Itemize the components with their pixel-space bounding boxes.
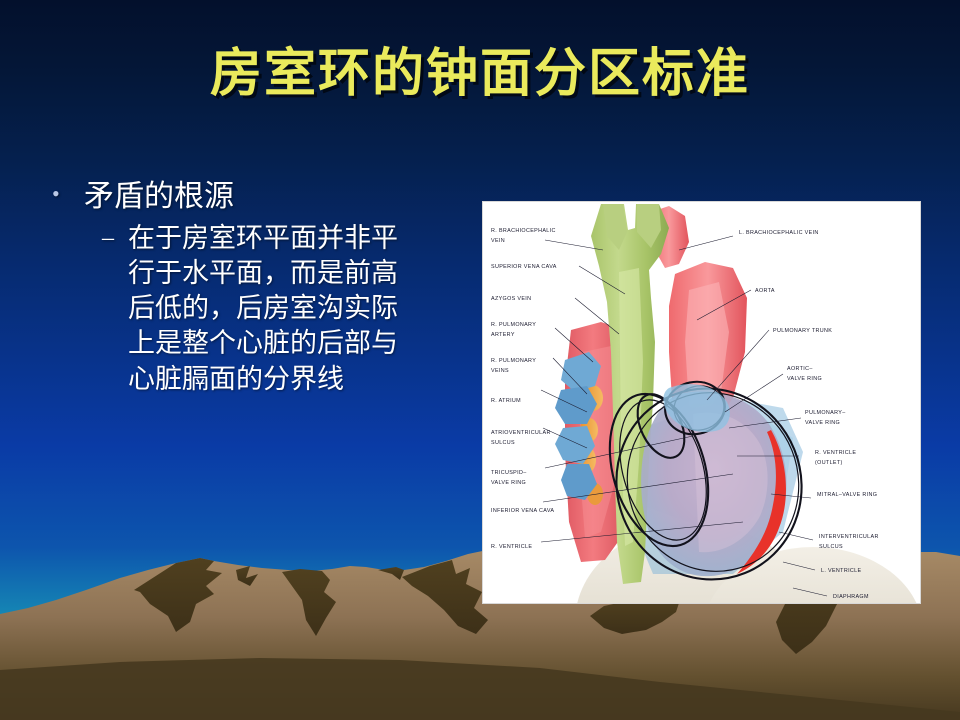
bullet-marker-level2: –: [102, 221, 128, 255]
label-r-pulmonary-veins-line2: VEINS: [491, 368, 509, 374]
label-pulmonary-valve-ring: PULMONARY–: [805, 410, 846, 416]
bullet-level1-matou-genyuan: • 矛盾的根源: [44, 178, 464, 215]
bullet-level2-line-4: 上是整个心脏的后部与: [128, 328, 398, 358]
label-r-ventricle-outlet: R. VENTRICLE: [815, 450, 856, 456]
label-superior-vena-cava: SUPERIOR VENA CAVA: [491, 264, 557, 270]
label-pulmonary-valve-ring-line2: VALVE RING: [805, 420, 840, 426]
label-r-brachiocephalic-vein: R. BRACHIOCEPHALIC: [491, 228, 556, 234]
bullet-level2-line-1: 在于房室环平面并非平: [128, 223, 398, 253]
label-inferior-vena-cava: INFERIOR VENA CAVA: [491, 508, 554, 514]
bullet-level2-text: 在于房室环平面并非平 行于水平面，而是前高 后低的，后房室沟实际 上是整个心脏的…: [128, 221, 464, 396]
bullet-level2-line-3: 后低的，后房室沟实际: [128, 293, 398, 323]
label-r-ventricle: R. VENTRICLE: [491, 544, 532, 550]
label-diaphragm: DIAPHRAGM: [833, 594, 869, 600]
label-r-pulmonary-artery: R. PULMONARY: [491, 322, 536, 328]
label-mitral-valve-ring: MITRAL–VALVE RING: [817, 492, 877, 498]
label-aortic-valve-ring: AORTIC–: [787, 366, 813, 372]
label-l-brachiocephalic-vein: L. BRACHIOCEPHALIC VEIN: [739, 230, 819, 236]
label-r-brachiocephalic-vein-line2: VEIN: [491, 238, 505, 244]
label-aorta: AORTA: [755, 288, 775, 294]
bullet-level2-line-2: 行于水平面，而是前高: [128, 258, 398, 288]
label-interventricular-sulcus: INTERVENTRICULAR: [819, 534, 879, 540]
slide-body-content: • 矛盾的根源 – 在于房室环平面并非平 行于水平面，而是前高 后低的，后房室沟…: [44, 178, 464, 397]
label-r-pulmonary-veins: R. PULMONARY: [491, 358, 536, 364]
label-interventricular-sulcus-line2: SULCUS: [819, 544, 843, 550]
bullet-level1-text: 矛盾的根源: [84, 178, 464, 215]
label-azygos-vein: AZYGOS VEIN: [491, 296, 531, 302]
label-atrioventricular-sulcus: ATRIOVENTRICULAR: [491, 430, 551, 436]
label-r-ventricle-outlet-line2: (OUTLET): [815, 460, 843, 466]
label-tricuspid-valve-ring-line2: VALVE RING: [491, 480, 526, 486]
label-tricuspid-valve-ring: TRICUSPID–: [491, 470, 527, 476]
bullet-marker-level1: •: [44, 178, 84, 210]
slide-title: 房室环的钟面分区标准: [0, 46, 960, 103]
label-atrioventricular-sulcus-line2: SULCUS: [491, 440, 515, 446]
presentation-slide: 房室环的钟面分区标准 • 矛盾的根源 – 在于房室环平面并非平 行于水平面，而是…: [0, 0, 960, 720]
label-pulmonary-trunk: PULMONARY TRUNK: [773, 328, 832, 334]
bullet-level2-line-5: 心脏膈面的分界线: [128, 364, 344, 394]
label-r-pulmonary-artery-line2: ARTERY: [491, 332, 515, 338]
label-aortic-valve-ring-line2: VALVE RING: [787, 376, 822, 382]
bullet-level2-explanation: – 在于房室环平面并非平 行于水平面，而是前高 后低的，后房室沟实际 上是整个心…: [102, 221, 464, 396]
label-r-atrium: R. ATRIUM: [491, 398, 521, 404]
label-l-ventricle: L. VENTRICLE: [821, 568, 862, 574]
heart-anatomy-figure: R. BRACHIOCEPHALIC VEIN SUPERIOR VENA CA…: [483, 202, 920, 603]
